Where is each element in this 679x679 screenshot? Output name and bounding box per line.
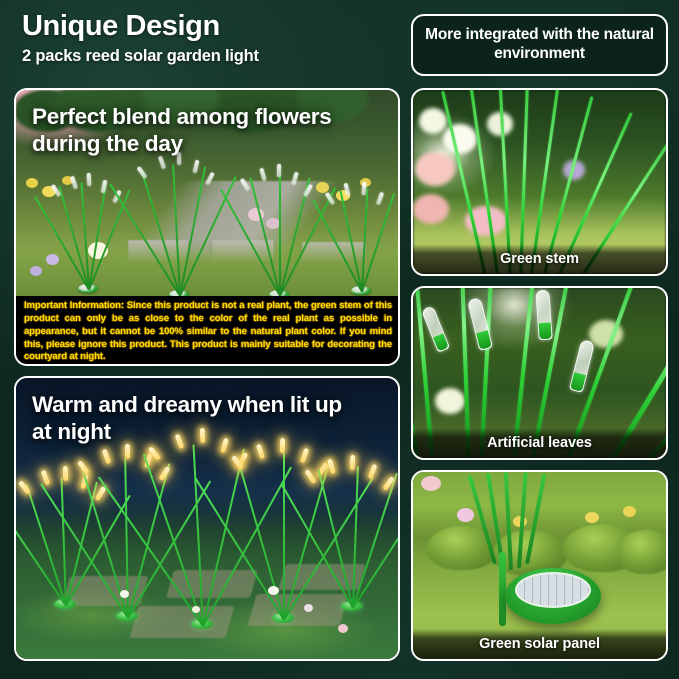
stem xyxy=(250,177,281,296)
green-stem-card: Green stem xyxy=(411,88,668,276)
led-bulb xyxy=(101,180,108,194)
page-title: Unique Design xyxy=(22,10,402,42)
day-photo-card: Perfect blend among flowers during the d… xyxy=(14,88,400,296)
led-bulb xyxy=(291,172,298,186)
important-information-block: Important Information: Since this produc… xyxy=(14,296,400,366)
stem xyxy=(179,166,206,296)
flower xyxy=(623,506,636,517)
flower xyxy=(30,266,42,276)
day-photo: Perfect blend among flowers during the d… xyxy=(16,90,398,296)
led-bulb xyxy=(87,173,92,186)
flower xyxy=(304,604,313,612)
green-stem-photo: Green stem xyxy=(413,90,666,274)
night-photo-card: Warm and dreamy when lit up at night xyxy=(14,376,400,661)
flower xyxy=(26,178,38,188)
reed-light-plant xyxy=(146,164,212,296)
artificial-leaves-caption-bar: Artificial leaves xyxy=(413,428,666,458)
night-photo: Warm and dreamy when lit up at night xyxy=(16,378,398,659)
solar-panel-disc xyxy=(505,568,601,624)
stem xyxy=(237,458,285,620)
bokeh-flower xyxy=(413,194,449,224)
flower xyxy=(192,606,200,613)
stem xyxy=(61,478,67,606)
flower xyxy=(120,590,129,598)
flower xyxy=(585,512,599,523)
page-subtitle: 2 packs reed solar garden light xyxy=(22,47,402,66)
led-bulb xyxy=(367,464,377,480)
stem xyxy=(283,452,285,620)
green-solar-panel-caption: Green solar panel xyxy=(479,636,600,652)
reed-light-plant xyxy=(248,174,310,296)
flower xyxy=(338,624,348,633)
green-stem-caption: Green stem xyxy=(500,251,579,267)
stem xyxy=(202,448,245,626)
green-solar-panel-card: Green solar panel xyxy=(411,470,668,661)
stem xyxy=(339,190,362,292)
callout-text: More integrated with the natural environ… xyxy=(423,26,656,63)
led-bulb xyxy=(350,455,356,470)
infographic-page: Unique Design 2 packs reed solar garden … xyxy=(0,0,679,679)
reed-light-plant xyxy=(332,188,390,292)
warning-text: Important Information: Since this produc… xyxy=(24,300,392,364)
day-photo-headline: Perfect blend among flowers during the d… xyxy=(32,104,362,157)
green-stem-caption-bar: Green stem xyxy=(413,244,666,274)
reed-light-plant xyxy=(316,466,388,608)
bokeh-flower xyxy=(435,388,465,414)
reed-light-plant xyxy=(58,182,118,290)
bokeh-flower xyxy=(415,152,455,186)
green-solar-panel-caption-bar: Green solar panel xyxy=(413,629,666,659)
led-bulb xyxy=(63,466,68,481)
green-solar-panel-photo: Green solar panel xyxy=(413,472,666,659)
header: Unique Design 2 packs reed solar garden … xyxy=(22,10,402,66)
stem xyxy=(88,183,106,290)
artificial-leaves-caption: Artificial leaves xyxy=(487,435,592,451)
stem xyxy=(279,174,281,296)
led-bulb xyxy=(277,164,281,177)
callout-box: More integrated with the natural environ… xyxy=(411,14,668,76)
shrub xyxy=(617,530,666,574)
solar-cell-surface xyxy=(515,572,591,608)
led-bulb xyxy=(376,192,384,206)
artificial-leaves-photo: Artificial leaves xyxy=(413,288,666,458)
bokeh-flower xyxy=(443,124,477,154)
flower xyxy=(268,586,279,595)
night-photo-headline: Warm and dreamy when lit up at night xyxy=(32,392,362,445)
artificial-leaves-card: Artificial leaves xyxy=(411,286,668,460)
stem xyxy=(318,470,354,608)
warning-inner: Important Information: Since this produc… xyxy=(16,296,398,364)
bokeh-flower xyxy=(419,108,447,134)
led-bulb xyxy=(125,444,130,459)
flower xyxy=(421,476,441,491)
flower xyxy=(457,508,474,522)
center-post xyxy=(499,552,506,626)
